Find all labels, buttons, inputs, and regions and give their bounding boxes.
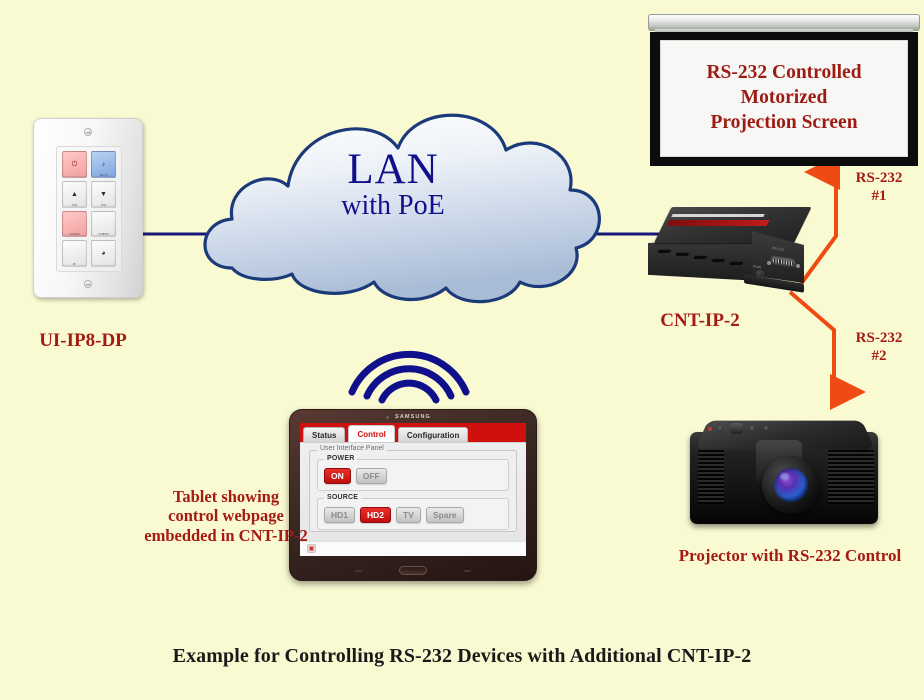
device-white-stripe <box>671 214 764 217</box>
device-red-stripe <box>667 220 770 226</box>
source-key-label: SOURCE <box>69 232 80 236</box>
projector-label: Projector with RS-232 Control <box>660 546 920 566</box>
screw-icon <box>84 280 92 288</box>
rs232-1-label: RS-232 #1 <box>840 170 918 205</box>
projection-screen: RS-232 Controlled Motorized Projection S… <box>648 14 920 166</box>
web-ui-tab-bar: Status Control Configuration <box>300 423 526 442</box>
home-button[interactable] <box>399 566 427 575</box>
screen-key[interactable]: SCREEN <box>91 211 116 238</box>
power-led-icon <box>708 427 712 431</box>
vol-up-key[interactable]: ▲ VOL <box>62 181 87 208</box>
screen-housing-bar <box>648 14 920 31</box>
port-screw-icon <box>796 264 800 268</box>
port-screw-icon <box>767 261 771 265</box>
source-hd2-button[interactable]: HD2 <box>360 507 391 523</box>
source-group-legend: SOURCE <box>324 494 361 501</box>
screw-icon <box>84 128 92 136</box>
vent-slot <box>693 255 708 259</box>
mute-key-label: MUTE <box>100 173 108 177</box>
source-tv-button[interactable]: TV <box>396 507 421 523</box>
control-button-icon <box>750 426 755 431</box>
power-button-row: ON OFF <box>324 468 502 484</box>
vent-slot <box>711 258 726 262</box>
wall-keypad-label: UI-IP8-DP <box>8 330 158 352</box>
vent-slot <box>657 249 672 253</box>
tab-configuration[interactable]: Configuration <box>398 427 468 442</box>
speaker-grill <box>464 570 471 572</box>
vol-down-key-label: VOL <box>101 203 107 207</box>
mute-icon: ♪ <box>102 161 106 168</box>
vent-slot <box>729 261 744 265</box>
rs232-2-label: RS-232 #2 <box>840 330 918 365</box>
lan-subtitle: with PoE <box>278 192 508 221</box>
user-interface-panel-legend: User Interface Panel <box>317 445 387 452</box>
keypad-faceplate: ⏻ ♪ MUTE ▲ VOL ▼ VOL SOURCE SC <box>33 118 143 298</box>
source-button-row: HD1 HD2 TV Spare <box>324 507 502 523</box>
control-button-icon <box>718 426 723 431</box>
diagram-caption: Example for Controlling RS-232 Devices w… <box>0 645 924 668</box>
vol-up-key-label: VOL <box>72 203 78 207</box>
web-ui-body: User Interface Panel POWER ON OFF SOURCE… <box>300 442 526 542</box>
triangle-up-icon: ▲ <box>71 191 78 198</box>
cnt-ip-2-device: RS-232 PWR <box>648 207 808 303</box>
control-button-icon <box>764 426 769 431</box>
tablet-screen[interactable]: Status Control Configuration User Interf… <box>300 423 526 556</box>
power-icon: ⏻ <box>72 161 78 168</box>
screen-key-label: SCREEN <box>98 232 108 236</box>
source-key[interactable]: SOURCE <box>62 211 87 238</box>
power-key[interactable]: ⏻ <box>62 151 87 178</box>
rs232-2-arrow <box>790 292 834 392</box>
cnt-ip-2-label: CNT-IP-2 <box>610 310 790 332</box>
pc-key-label: PC <box>73 262 76 266</box>
power-on-button[interactable]: ON <box>324 468 351 484</box>
wifi-signal-icon <box>352 354 466 400</box>
screen-caption: RS-232 Controlled Motorized Projection S… <box>706 61 861 136</box>
pc-key[interactable]: PC <box>62 240 87 267</box>
vent-slot <box>675 252 690 256</box>
projector-vent-right <box>828 450 874 504</box>
source-group: SOURCE HD1 HD2 TV Spare <box>317 498 509 530</box>
source-spare-button[interactable]: Spare <box>426 507 464 523</box>
dpad-icon <box>730 423 743 434</box>
tablet-caption: Tablet showing control webpage embedded … <box>132 487 320 545</box>
power-group-legend: POWER <box>324 455 357 462</box>
power-jack <box>756 270 764 278</box>
screen-surface: RS-232 Controlled Motorized Projection S… <box>660 40 908 157</box>
projector-vent-left <box>698 450 724 504</box>
tablet-brand: SAMSUNG <box>289 414 537 420</box>
screen-frame: RS-232 Controlled Motorized Projection S… <box>650 32 918 166</box>
wall-keypad[interactable]: ⏻ ♪ MUTE ▲ VOL ▼ VOL SOURCE SC <box>33 118 143 298</box>
mute-key[interactable]: ♪ MUTE <box>91 151 116 178</box>
user-interface-panel: User Interface Panel POWER ON OFF SOURCE… <box>309 450 517 532</box>
speaker-grill <box>355 570 362 572</box>
lan-cloud-label: LAN with PoE <box>278 148 508 220</box>
wifi-icon: ◕ <box>101 250 105 257</box>
power-group: POWER ON OFF <box>317 459 509 491</box>
diagram-canvas: LAN with PoE RS-232 Controlled Motorized… <box>0 0 924 700</box>
vol-down-key[interactable]: ▼ VOL <box>91 181 116 208</box>
lens-glass <box>774 468 808 502</box>
keypad-button-grid: ⏻ ♪ MUTE ▲ VOL ▼ VOL SOURCE SC <box>56 146 122 272</box>
projector <box>686 404 886 544</box>
lan-title: LAN <box>278 148 508 192</box>
source-hd1-button[interactable]: HD1 <box>324 507 355 523</box>
power-off-button[interactable]: OFF <box>356 468 387 484</box>
web-ui-status-bar: ▣ <box>300 541 526 556</box>
wifi-key[interactable]: ◕ <box>91 240 116 267</box>
triangle-down-icon: ▼ <box>100 191 107 198</box>
tablet[interactable]: SAMSUNG Status Control Configuration Use… <box>289 409 537 581</box>
tab-status[interactable]: Status <box>303 427 345 442</box>
tab-control[interactable]: Control <box>348 425 394 442</box>
